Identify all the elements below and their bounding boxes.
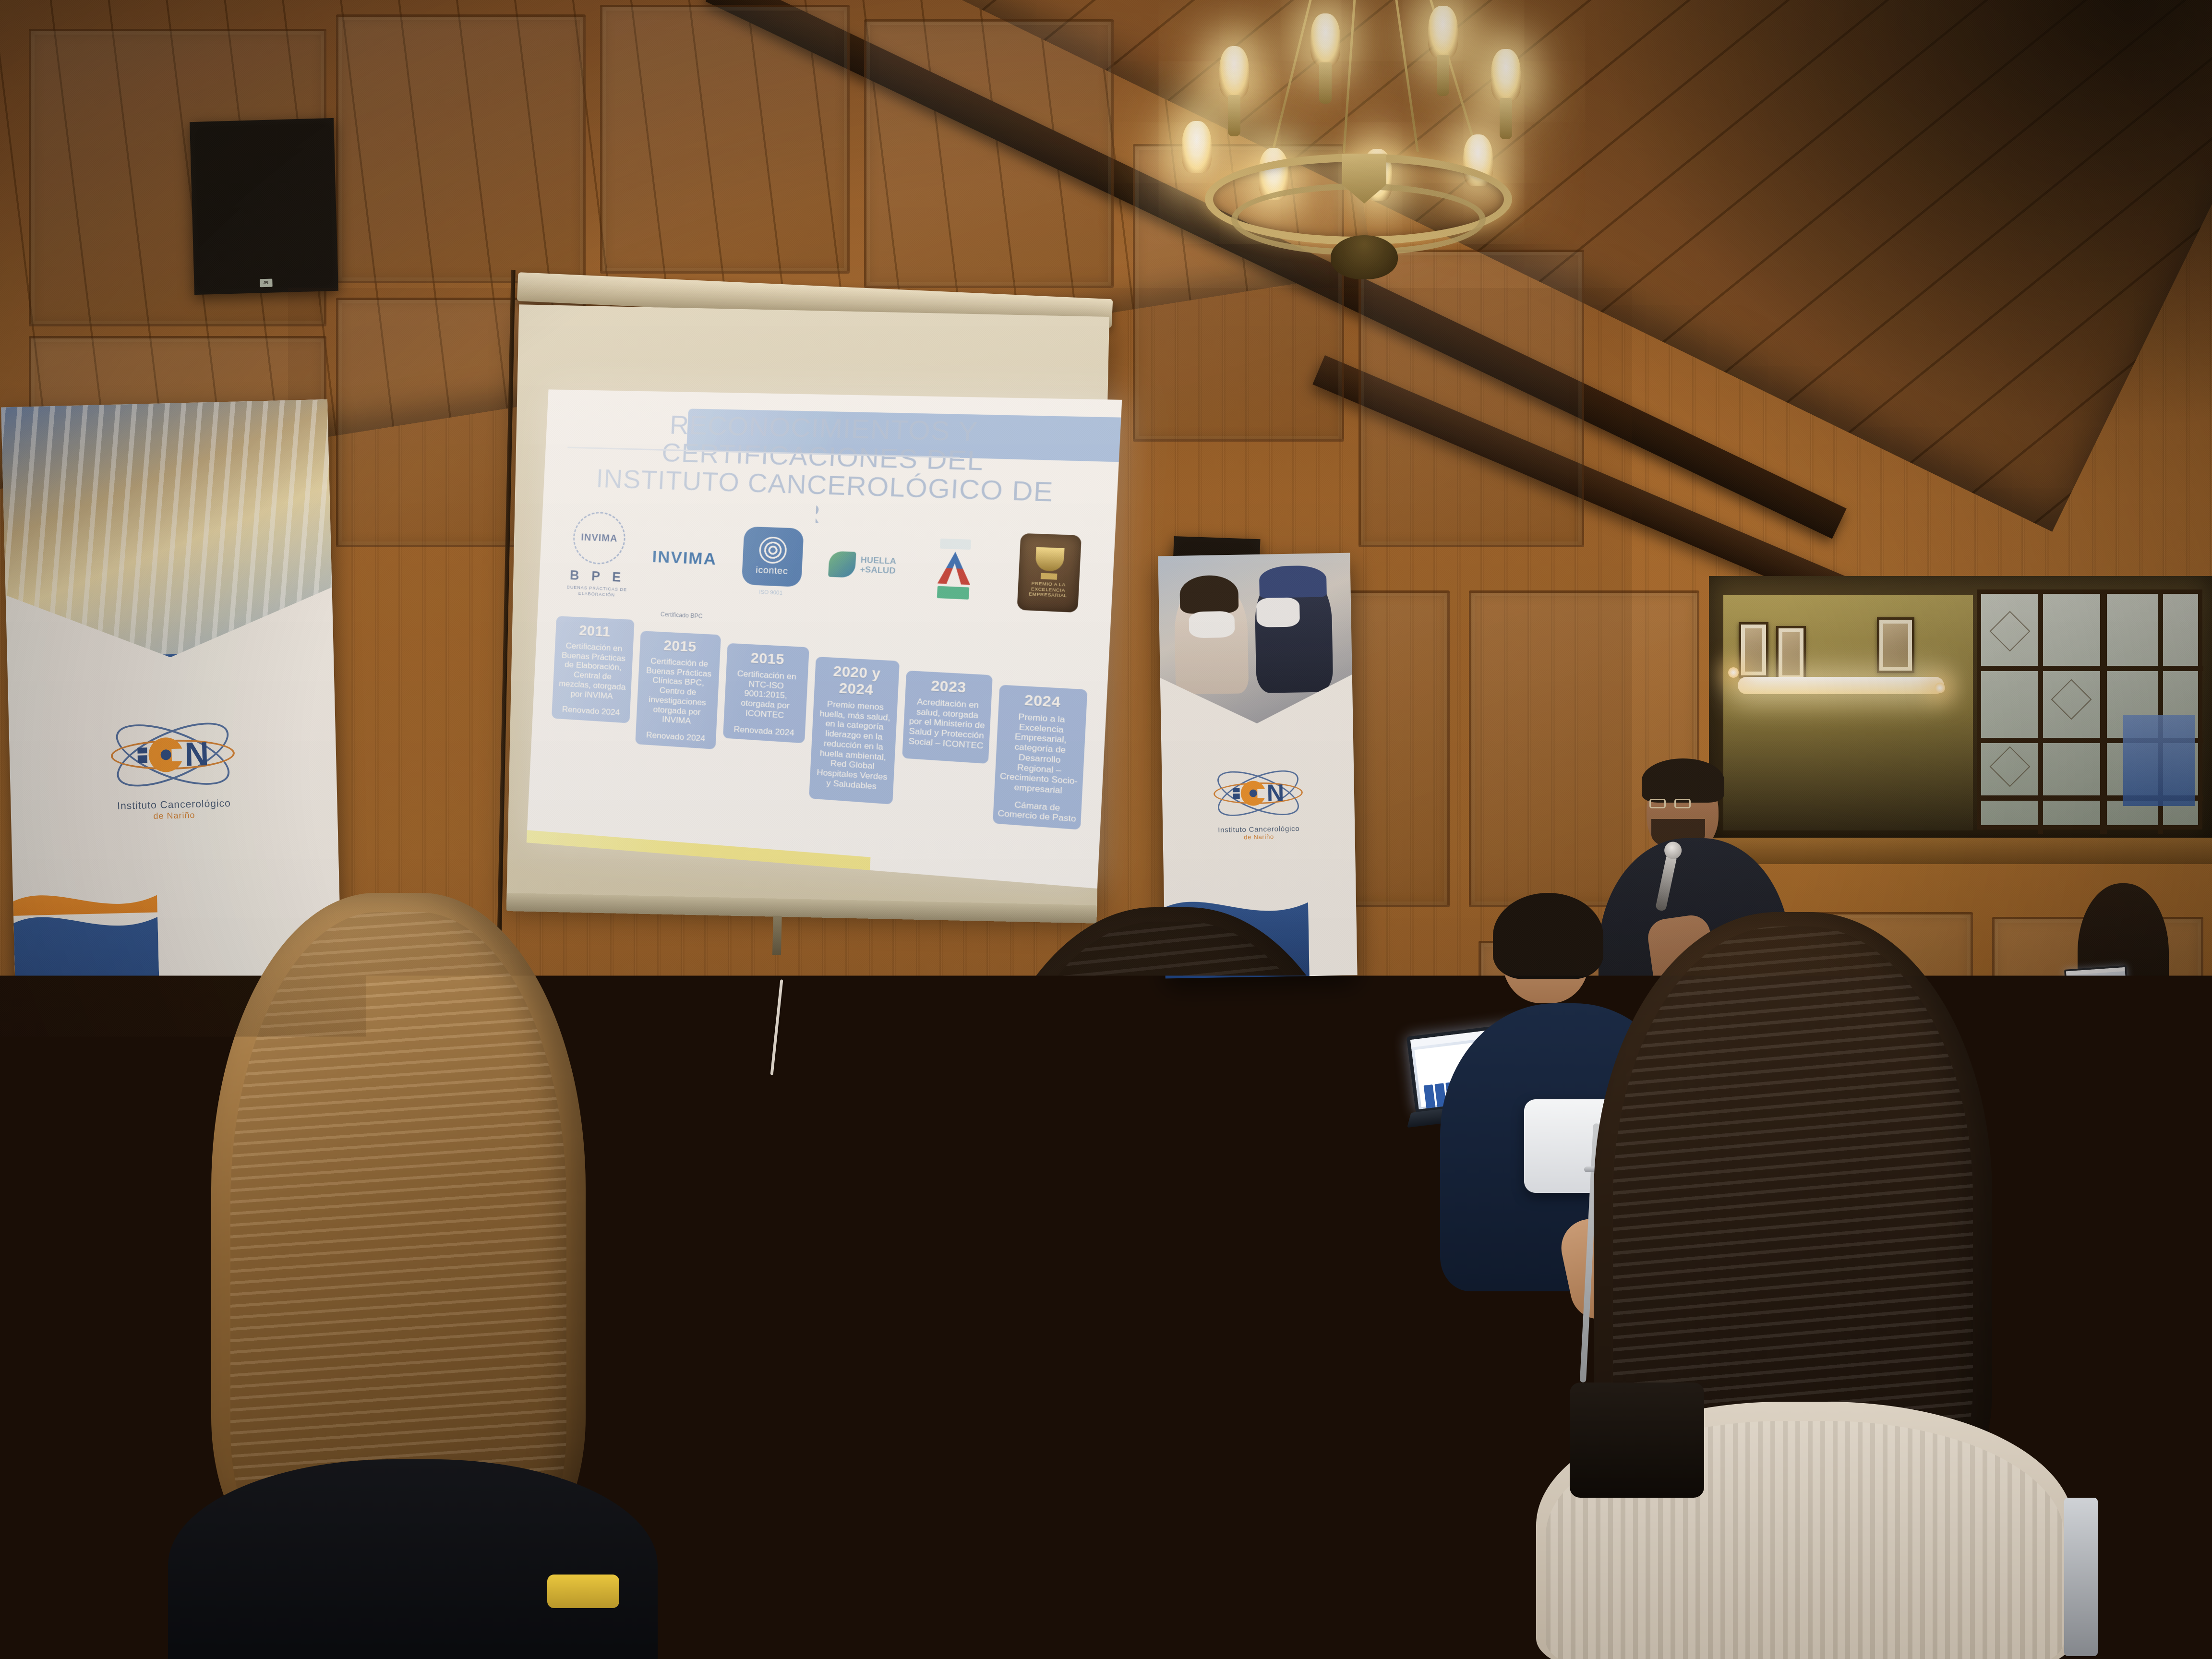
trophy-icon [1035,547,1064,572]
card-text: Premio menos huella, más salud, en la ca… [814,698,893,792]
certification-logo-row: INVIMA B P E BUENAS PRÁCTICAS DE ELABORA… [556,490,1096,642]
certification-card: 2023 Acreditación en salud, otorgada por… [902,671,993,764]
icontec-wordmark: icontec [756,565,788,577]
icn-letter-n: N [1266,783,1284,803]
conference-room-scene: JBL JBL [0,0,2212,1659]
attendee-torso [168,1459,658,1659]
attendee-front-left [144,893,720,1659]
invima-seal-icon: INVIMA [572,511,627,565]
water-glass-rear-b [2179,1003,2201,1043]
framed-picture [1776,626,1806,682]
certification-card: 2015 Certificación en NTC-ISO 9001:2015,… [723,643,809,744]
water-glass-center [802,1253,869,1368]
banner-clinical-photo [1158,553,1353,725]
presenter-hair [1642,758,1724,803]
icn-atom-icon: N [109,712,236,797]
invima-logo: INVIMA Certificado BPC [641,493,728,624]
chandelier-bulb [1182,121,1212,173]
card-year: 2024 [1003,691,1083,713]
face-mask-icon [1189,611,1235,638]
icontec-logo: icontec ISO 9001 [728,495,817,628]
icn-letter-n: N [184,740,208,768]
banner-contact-block: Carrera 40a N° 19B - 55 Pasto - Nariño -… [36,1061,156,1091]
icontec-rings-icon [758,536,787,564]
leaded-glass-window [1977,589,2202,829]
card-text: Certificación en Buenas Prácticas de Ela… [556,641,629,702]
attendee-front-right [1527,912,2103,1659]
wall-panel [600,5,850,274]
card-year: 2015 [730,649,805,669]
brass-chandelier [1152,0,1575,293]
screen-surface: RECONOCIMIENTOS Y CERTIFICACIONES DEL IN… [506,304,1109,912]
certification-card: 2011 Certificación en Buenas Prácticas d… [552,616,635,723]
speaker-brand-badge: JBL [260,279,272,288]
water-glass-rear-a [2140,1005,2163,1045]
huella-salud-logo: HUELLA +SALUD [817,498,908,633]
chandelier-bulb [1428,6,1458,58]
banner-website: www.icnltda.com [37,1080,156,1091]
chandelier-center-boss [1331,235,1398,279]
bpe-label: B P E [569,568,625,585]
screen-pull-handle[interactable] [772,916,782,955]
ceiling-shadow [1588,0,2212,432]
leaf-icon [828,551,856,578]
eyeglasses-icon [1649,799,1691,809]
trophy-label: PREMIO A LA EXCELENCIA EMPRESARIAL [1018,580,1079,599]
surgical-cap-icon [1259,565,1327,598]
bpe-sublabel: BUENAS PRÁCTICAS DE ELABORACIÓN [557,584,636,599]
certification-card: 2020 y 2024 Premio menos huella, más sal… [809,657,900,805]
card-year: 2011 [559,622,630,642]
chandelier-bulb [1310,13,1340,65]
pull-down-projection-screen: RECONOCIMIENTOS Y CERTIFICACIONES DEL IN… [503,279,1113,988]
wall-panel [864,19,1114,288]
card-year: 2015 [644,637,717,657]
face-mask-icon [1256,597,1300,627]
acreditacion-salud-logo [909,501,1001,637]
yellow-wristband [547,1575,619,1608]
wall-sconce-light [1728,667,1739,678]
icontec-badge: icontec [741,526,804,587]
certification-card: 2015 Certificación de Buenas Prácticas C… [636,631,721,749]
wall-outlet-left [46,1248,77,1271]
bar-strip-light [1738,677,1944,694]
card-year: 2020 y 2024 [818,663,895,700]
framed-picture [1877,617,1914,673]
card-text: Acreditación en salud, otorgada por el M… [907,697,987,751]
bag-on-floor [1570,1382,1704,1498]
premio-excelencia-logo: PREMIO A LA EXCELENCIA EMPRESARIAL [1002,504,1097,642]
table-rear-cloth [2103,1070,2212,1195]
invima-wordmark: INVIMA [652,547,717,569]
icn-logo: N Instituto Cancerológico de Nariño [1213,763,1304,842]
icn-atom-icon: N [1213,763,1303,823]
icontec-caption: ISO 9001 [759,589,782,597]
certification-card: 2024 Premio a la Excelencia Empresarial,… [993,685,1088,829]
framed-picture [1739,622,1768,678]
icn-logo: N Instituto Cancerológico de Nariño [109,712,237,822]
chair-frame-post [2064,1498,2098,1656]
acred-bottom-bar [937,586,969,600]
invima-bpe-logo: INVIMA B P E BUENAS PRÁCTICAS DE ELABORA… [556,490,641,620]
card-text: Certificación de Buenas Prácticas Clínic… [640,656,716,727]
acred-a-icon [938,551,972,585]
wall-sconce-light [1935,683,1945,693]
hair-strand-texture [979,922,1363,1613]
projected-slide: RECONOCIMIENTOS Y CERTIFICACIONES DEL IN… [527,389,1122,889]
chandelier-bulb [1219,46,1249,98]
icn-org-name: Instituto Cancerológico [1214,825,1304,835]
card-text: Certificación en NTC-ISO 9001:2015, otor… [728,668,804,721]
table-rear-cloth-lower [2098,1186,2212,1310]
wall-speaker-left: JBL [190,118,338,295]
nurse-figure [1254,570,1333,693]
huella-line2: +SALUD [860,565,896,576]
invima-caption: Certificado BPC [642,610,722,621]
card-text: Premio a la Excelencia Empresarial, cate… [998,711,1082,797]
attendee-front-center [902,907,1440,1659]
patient-figure [1174,582,1249,695]
card-renewal: Cámara de Comercio de Pasto [997,792,1078,825]
acred-top-bar [940,539,972,550]
card-year: 2023 [910,677,988,698]
chandelier-bulb [1491,49,1521,101]
trophy-plaque: PREMIO A LA EXCELENCIA EMPRESARIAL [1017,533,1082,613]
wall-panel [336,14,586,283]
